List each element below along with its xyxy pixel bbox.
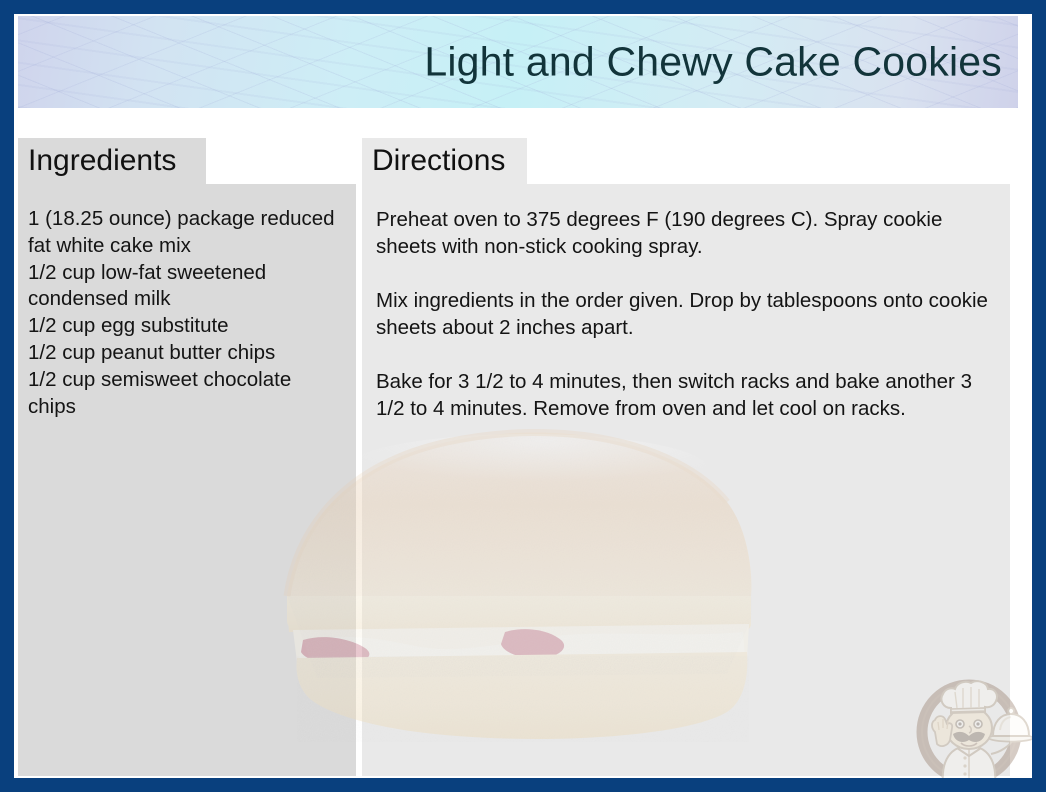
direction-step: Mix ingredients in the order given. Drop… bbox=[376, 287, 992, 341]
recipe-card: Light and Chewy Cake Cookies Ingredients… bbox=[0, 0, 1046, 792]
tab-directions-label: Directions bbox=[372, 144, 505, 177]
list-item: 1/2 cup peanut butter chips bbox=[28, 340, 344, 367]
ingredients-panel: 1 (18.25 ounce) package reduced fat whit… bbox=[18, 184, 356, 776]
title-banner: Light and Chewy Cake Cookies bbox=[18, 16, 1018, 108]
list-item: fat white cake mix bbox=[28, 233, 344, 260]
tab-directions: Directions bbox=[362, 138, 527, 184]
tab-ingredients: Ingredients bbox=[18, 138, 206, 184]
page-title: Light and Chewy Cake Cookies bbox=[424, 40, 1002, 83]
direction-step: Preheat oven to 375 degrees F (190 degre… bbox=[376, 206, 992, 260]
tab-ingredients-label: Ingredients bbox=[28, 144, 176, 177]
list-item: 1/2 cup egg substitute bbox=[28, 313, 344, 340]
direction-step: Bake for 3 1/2 to 4 minutes, then switch… bbox=[376, 368, 992, 422]
directions-panel: Preheat oven to 375 degrees F (190 degre… bbox=[362, 184, 1010, 776]
list-item: chips bbox=[28, 394, 344, 421]
list-item: 1 (18.25 ounce) package reduced bbox=[28, 206, 344, 233]
list-item: 1/2 cup low-fat sweetened bbox=[28, 260, 344, 287]
list-item: condensed milk bbox=[28, 286, 344, 313]
list-item: 1/2 cup semisweet chocolate bbox=[28, 367, 344, 394]
